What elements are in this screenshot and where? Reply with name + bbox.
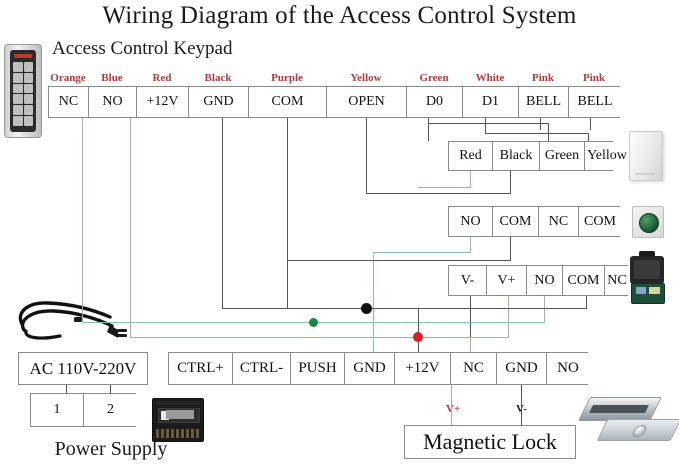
keypad-wire-color-1: Blue xyxy=(88,72,136,86)
exit-button-terminal-strip: NOCOMNCCOM xyxy=(448,206,620,237)
wire-exit-no-horizontal xyxy=(373,252,471,253)
wire-keypad-no-horizontal xyxy=(82,322,373,323)
wire-reader-green-vertical xyxy=(548,123,549,141)
wire-keypad-12v-vertical xyxy=(130,118,131,337)
power-supply-terminal-0: 1 xyxy=(31,394,84,426)
wire-exit-com-horizontal xyxy=(287,260,511,261)
keypad-device xyxy=(4,44,42,138)
ac-input-box: AC 110V-220V xyxy=(18,352,148,385)
reader-terminal-3: Yellow xyxy=(585,142,629,170)
keypad-face xyxy=(10,50,36,132)
lock-relay-terminal-strip: V-V+NOCOMNC xyxy=(448,265,628,296)
power-supply-terminal-1: 2 xyxy=(84,394,137,426)
junction-dot-red xyxy=(413,332,423,342)
keypad-wire-color-5: Yellow xyxy=(326,72,406,86)
keypad-terminal-1: NO xyxy=(89,87,137,117)
keypad-wire-color-9: Pink xyxy=(568,72,620,86)
wire-relay-com-vertical xyxy=(586,296,587,308)
exit-terminal-2: NC xyxy=(539,207,579,236)
exit-terminal-3: COM xyxy=(579,207,621,236)
power-supply-terminal-strip: 12 xyxy=(30,393,136,427)
controller-terminal-6: GND xyxy=(497,353,547,384)
reader-terminal-strip: RedBlackGreenYellow xyxy=(448,141,613,171)
keypad-terminal-5: OPEN xyxy=(327,87,407,117)
wire-reader-black-horizontal xyxy=(366,193,511,194)
wire-keypad-gnd-vertical xyxy=(222,118,223,308)
keypad-wire-color-8: Pink xyxy=(518,72,568,86)
wire-keypad-d1-vertical xyxy=(485,118,486,133)
wire-ps-term2 xyxy=(110,385,111,393)
wire-relay-vplus-horizontal xyxy=(418,337,509,338)
controller-terminal-0: CTRL+ xyxy=(169,353,233,384)
electric-lock-icon xyxy=(630,251,664,303)
keypad-wire-color-2: Red xyxy=(136,72,188,86)
keypad-terminal-2: +12V xyxy=(137,87,189,117)
keypad-wire-color-labels: OrangeBlueRedBlackPurpleYellowGreenWhite… xyxy=(48,72,620,86)
wire-reader-red-horizontal xyxy=(418,187,471,188)
keypad-wire-color-6: Green xyxy=(406,72,462,86)
page-title: Wiring Diagram of the Access Control Sys… xyxy=(0,2,679,30)
controller-terminal-3: GND xyxy=(345,353,395,384)
controller-box-icon xyxy=(152,398,204,442)
keypad-terminal-7: D1 xyxy=(463,87,519,117)
maglock-vplus-label: V+ xyxy=(446,403,460,415)
wire-reader-red-vertical xyxy=(470,171,471,187)
exit-terminal-0: NO xyxy=(449,207,493,236)
lock-relay-terminal-0: V- xyxy=(449,266,487,295)
wire-keypad-12v-horizontal xyxy=(130,337,418,338)
keypad-wire-color-7: White xyxy=(462,72,518,86)
wire-reader-black-vertical xyxy=(510,171,511,193)
wire-exit-no-drop xyxy=(373,252,374,322)
magnetic-lock-box: Magnetic Lock xyxy=(404,425,576,459)
keypad-terminal-6: D0 xyxy=(407,87,463,117)
keypad-wire-color-3: Black xyxy=(188,72,248,86)
controller-terminal-4: +12V xyxy=(395,353,451,384)
wire-relay-vplus-vertical xyxy=(508,296,509,337)
controller-terminal-2: PUSH xyxy=(291,353,345,384)
wire-maglock-vplus xyxy=(451,385,452,425)
wire-relay-com-horizontal xyxy=(366,308,587,309)
controller-terminal-7: NO xyxy=(547,353,589,384)
keypad-terminal-4: COM xyxy=(249,87,327,117)
wire-relay-no-vertical xyxy=(544,296,545,322)
keypad-terminal-9: BELL xyxy=(569,87,621,117)
keypad-terminal-strip: NCNO+12VGNDCOMOPEND0D1BELLBELL xyxy=(48,86,620,118)
keypad-terminal-0: NC xyxy=(49,87,89,117)
keypad-keys xyxy=(13,62,33,126)
wire-exit-no-vertical xyxy=(470,237,471,252)
wire-keypad-d1-horizontal xyxy=(485,133,588,134)
keypad-section-title: Access Control Keypad xyxy=(52,38,232,60)
keypad-led xyxy=(14,54,32,58)
wire-controller-gnd-up xyxy=(418,308,419,352)
keypad-terminal-8: BELL xyxy=(519,87,569,117)
keypad-wire-color-0: Orange xyxy=(48,72,88,86)
wire-keypad-no-vertical xyxy=(82,118,83,322)
lock-relay-terminal-2: NO xyxy=(527,266,563,295)
wire-controller-12v-up xyxy=(470,337,471,352)
wire-keypad-bell1 xyxy=(540,118,541,130)
exit-terminal-1: COM xyxy=(493,207,539,236)
wire-keypad-gnd-horizontal xyxy=(222,308,366,309)
keypad-wire-color-4: Purple xyxy=(248,72,326,86)
exit-button-knob xyxy=(639,213,659,233)
wire-keypad-open-vertical xyxy=(366,118,367,193)
card-reader-icon xyxy=(629,131,663,181)
controller-terminal-5: NC xyxy=(451,353,497,384)
wire-relay-no-horizontal xyxy=(373,322,545,323)
wire-maglock-vminus xyxy=(521,385,522,425)
wire-keypad-bell2 xyxy=(590,118,591,130)
controller-terminal-strip: CTRL+CTRL-PUSHGND+12VNCGNDNO xyxy=(168,352,588,385)
junction-dot-green xyxy=(309,318,318,327)
wiring-diagram-canvas: Wiring Diagram of the Access Control Sys… xyxy=(0,0,679,470)
lock-relay-terminal-1: V+ xyxy=(487,266,527,295)
wire-ps-term1 xyxy=(66,385,67,393)
wire-exit-com-vertical xyxy=(510,237,511,260)
lock-relay-terminal-4: NC xyxy=(605,266,629,295)
wire-keypad-com-vertical xyxy=(287,118,288,308)
wire-controller-push-up xyxy=(373,322,374,352)
wire-keypad-d0-horizontal xyxy=(428,123,548,124)
junction-dot-black xyxy=(361,303,372,314)
reader-terminal-1: Black xyxy=(493,142,540,170)
controller-terminal-1: CTRL- xyxy=(233,353,291,384)
reader-terminal-2: Green xyxy=(540,142,585,170)
exit-button-icon xyxy=(632,206,664,238)
keypad-terminal-3: GND xyxy=(189,87,249,117)
reader-terminal-0: Red xyxy=(449,142,493,170)
lock-relay-terminal-3: COM xyxy=(563,266,605,295)
magnetic-lock-icon xyxy=(584,395,676,453)
wire-keypad-d0-vertical xyxy=(428,118,429,141)
power-cord-icon xyxy=(14,298,134,344)
wire-reader-yellow-vertical xyxy=(588,133,589,141)
